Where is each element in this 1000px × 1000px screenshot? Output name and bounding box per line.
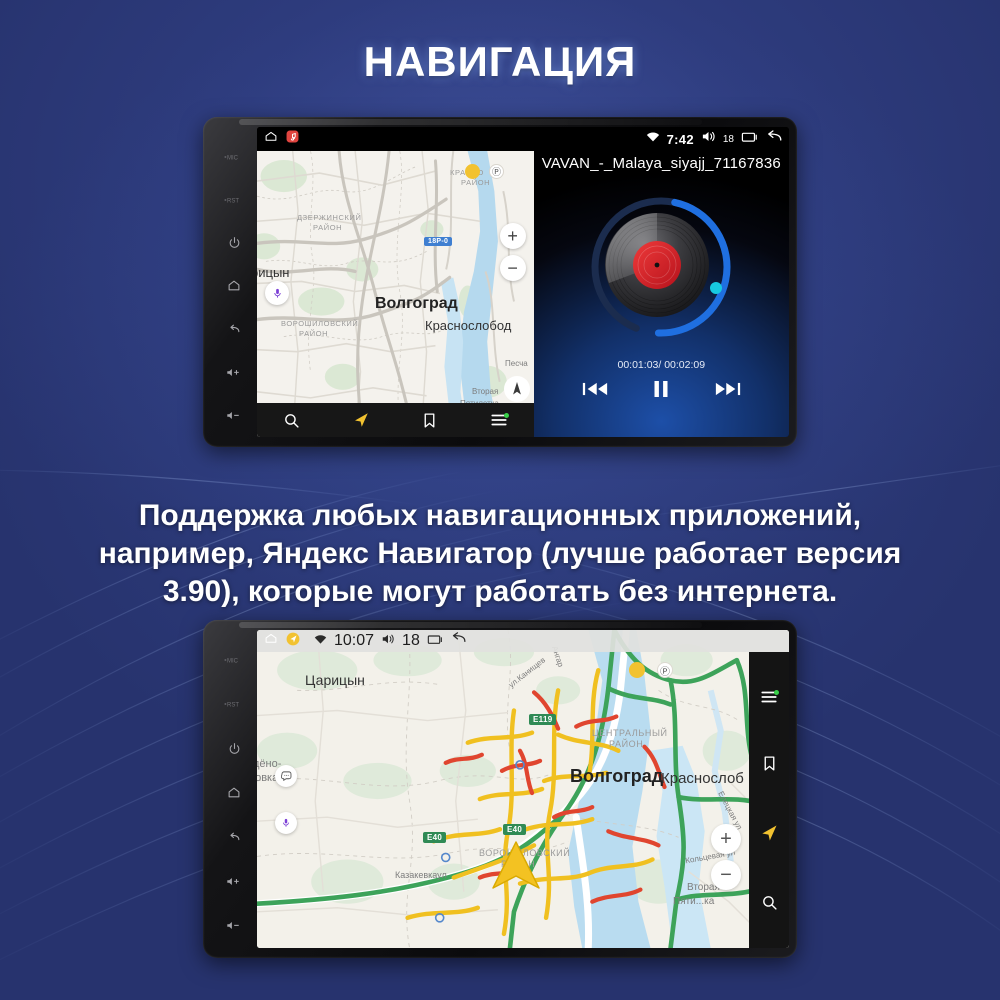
paragraph-line-3: 3.90), которые могут работать без интерн… xyxy=(50,573,950,611)
wifi-icon xyxy=(314,632,327,650)
road-badge: E119 xyxy=(529,714,556,725)
disc-and-progress xyxy=(581,187,741,347)
volume-icon xyxy=(701,130,716,148)
screen-top: ДЗЕРЖИНСКИЙ РАЙОН КРАСНО РАЙОН рицын Вол… xyxy=(257,127,789,437)
status-bar-bottom: 10:07 18 xyxy=(257,630,789,652)
map-bottom-bar-top xyxy=(257,403,534,437)
search-icon[interactable] xyxy=(283,412,300,429)
poi-marker-icon[interactable] xyxy=(629,662,645,678)
svg-text:MIC: MIC xyxy=(227,155,239,161)
hardware-bezel-bottom: MIC RST xyxy=(211,630,257,948)
poi-marker-icon[interactable] xyxy=(465,164,480,179)
map-side-rail-bottom xyxy=(749,652,789,948)
album-disc[interactable] xyxy=(581,187,741,347)
previous-track-icon[interactable] xyxy=(582,380,608,403)
map-vector-bottom xyxy=(257,630,789,948)
power-icon[interactable] xyxy=(211,727,257,771)
menu-badge-dot xyxy=(774,690,779,695)
zoom-out-button[interactable]: − xyxy=(711,860,741,890)
media-controls xyxy=(534,379,789,404)
microphone-icon[interactable] xyxy=(265,281,289,305)
pause-icon[interactable] xyxy=(651,379,671,404)
bookmark-icon[interactable] xyxy=(422,412,437,429)
road-badge: E40 xyxy=(423,832,446,843)
volume-up-icon[interactable] xyxy=(211,859,257,903)
music-app-icon[interactable] xyxy=(286,130,299,148)
home-icon[interactable] xyxy=(263,130,279,148)
status-clock: 10:07 xyxy=(334,632,374,650)
volume-level: 18 xyxy=(402,632,420,650)
page-title: НАВИГАЦИЯ xyxy=(0,38,1000,86)
next-track-icon[interactable] xyxy=(715,380,741,403)
zoom-in-button[interactable]: + xyxy=(711,824,741,854)
volume-icon xyxy=(381,632,395,650)
status-clock: 7:42 xyxy=(667,132,694,147)
power-icon[interactable] xyxy=(211,221,257,264)
head-unit-top: MIC RST xyxy=(203,117,797,447)
map-panel-top[interactable]: ДЗЕРЖИНСКИЙ РАЙОН КРАСНО РАЙОН рицын Вол… xyxy=(257,127,534,437)
chat-bubble-icon[interactable] xyxy=(275,765,297,787)
map-canvas-top[interactable]: ДЗЕРЖИНСКИЙ РАЙОН КРАСНО РАЙОН рицын Вол… xyxy=(257,151,534,437)
parking-icon[interactable]: Ⓟ xyxy=(657,662,673,678)
road-badge: E40 xyxy=(503,824,526,835)
menu-badge-dot xyxy=(504,413,509,418)
head-unit-bottom: MIC RST xyxy=(203,620,797,958)
back-icon[interactable] xyxy=(211,308,257,351)
menu-icon[interactable] xyxy=(760,690,778,704)
recents-icon[interactable] xyxy=(427,632,443,650)
paragraph-line-2: например, Яндекс Навигатор (лучше работа… xyxy=(50,535,950,573)
navigate-arrow-icon[interactable] xyxy=(352,411,370,429)
media-time: 00:01:03/ 00:02:09 xyxy=(534,359,789,371)
bookmark-icon[interactable] xyxy=(762,755,777,772)
position-arrow-icon xyxy=(489,840,543,897)
hardware-bezel-top: MIC RST xyxy=(211,127,257,437)
svg-text:RST: RST xyxy=(227,703,239,709)
map-vector-top xyxy=(257,151,534,437)
search-icon[interactable] xyxy=(761,894,778,911)
menu-icon[interactable] xyxy=(490,413,508,427)
map-canvas-bottom[interactable]: Царицын дёно- новка ВОРОШИЛОВСКИЙ РАЙОН … xyxy=(257,630,789,948)
hw-reset-button[interactable]: RST xyxy=(211,178,257,221)
recents-icon[interactable] xyxy=(741,130,758,148)
zoom-in-button[interactable]: + xyxy=(500,223,526,249)
road-badge: 18Р-0 xyxy=(424,237,452,246)
wifi-icon xyxy=(646,130,660,148)
home-icon[interactable] xyxy=(263,632,279,650)
compass-icon[interactable] xyxy=(504,376,530,402)
back-icon[interactable] xyxy=(450,632,467,650)
home-icon[interactable] xyxy=(211,264,257,307)
media-panel-top[interactable]: 7:42 18 VAVAN_-_Malaya_siyajj_71167836 xyxy=(534,127,789,437)
microphone-icon[interactable] xyxy=(275,812,297,834)
back-icon[interactable] xyxy=(765,130,783,149)
svg-text:RST: RST xyxy=(227,198,239,204)
svg-text:MIC: MIC xyxy=(227,659,239,665)
description-paragraph: Поддержка любых навигационных приложений… xyxy=(50,497,950,611)
volume-down-icon[interactable] xyxy=(211,394,257,437)
volume-up-icon[interactable] xyxy=(211,351,257,394)
zoom-controls-bottom: + − xyxy=(711,824,741,890)
hw-mic-button[interactable]: MIC xyxy=(211,135,257,178)
hw-reset-button[interactable]: RST xyxy=(211,682,257,726)
status-bar-top-right: 7:42 18 xyxy=(534,127,789,151)
status-bar-top-left xyxy=(257,127,534,151)
zoom-out-button[interactable]: − xyxy=(500,255,526,281)
navigate-arrow-icon[interactable] xyxy=(759,823,779,843)
screen-bottom[interactable]: Царицын дёно- новка ВОРОШИЛОВСКИЙ РАЙОН … xyxy=(257,630,789,948)
paragraph-line-1: Поддержка любых навигационных приложений… xyxy=(50,497,950,535)
volume-level: 18 xyxy=(723,134,734,145)
back-icon[interactable] xyxy=(211,815,257,859)
home-icon[interactable] xyxy=(211,771,257,815)
hw-mic-button[interactable]: MIC xyxy=(211,638,257,682)
volume-down-icon[interactable] xyxy=(211,904,257,948)
parking-icon[interactable]: Ⓟ xyxy=(489,164,504,179)
track-title: VAVAN_-_Malaya_siyajj_71167836 xyxy=(534,155,789,172)
navigator-app-icon[interactable] xyxy=(286,632,300,651)
